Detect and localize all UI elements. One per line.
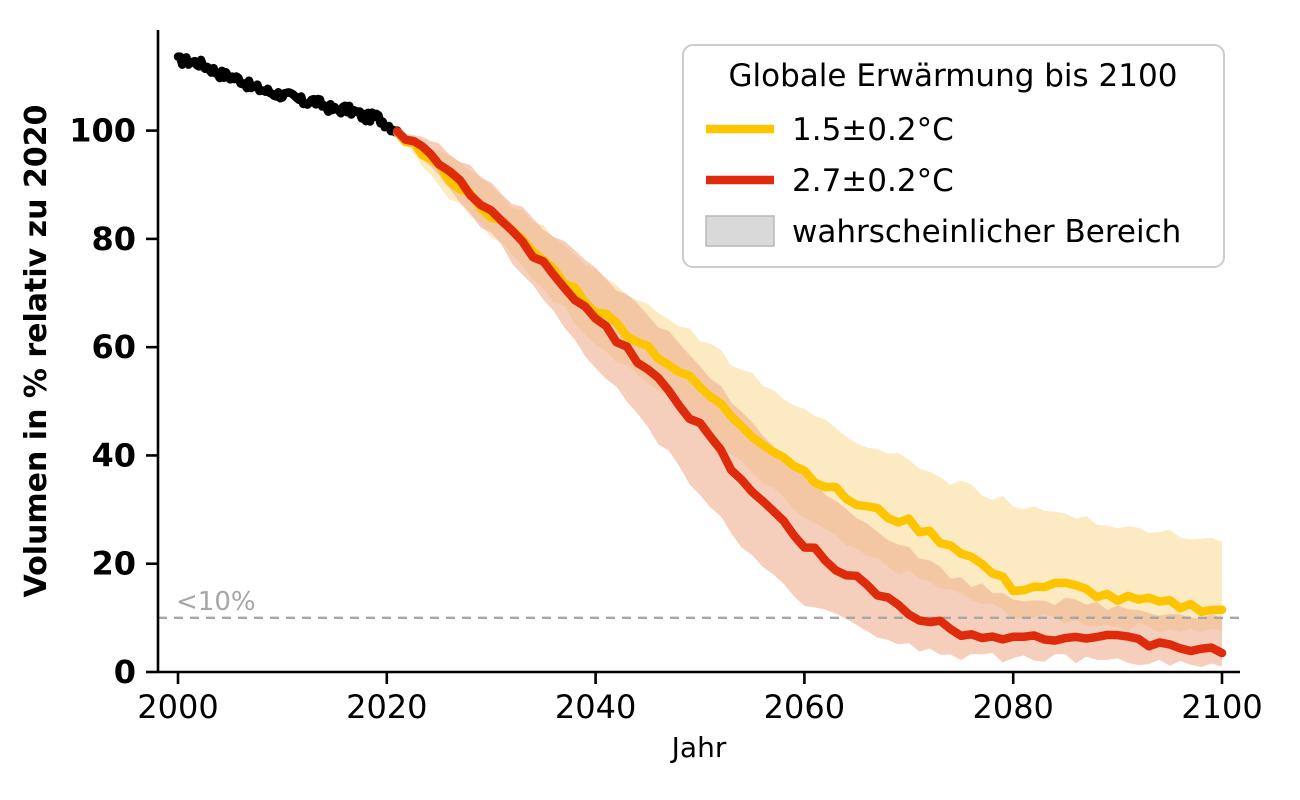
legend-title: Globale Erwärmung bis 2100 <box>729 58 1178 94</box>
x-tick-label: 2000 <box>137 688 218 726</box>
chart-legend: Globale Erwärmung bis 2100 1.5±0.2°C 2.7… <box>683 45 1224 267</box>
legend-label-likely-range: wahrscheinlicher Bereich <box>792 214 1181 250</box>
threshold-label: <10% <box>176 587 256 617</box>
y-tick-label: 40 <box>91 436 136 474</box>
y-axis-label: Volumen in % relativ zu 2020 <box>19 105 54 598</box>
x-axis-label: Jahr <box>670 731 727 764</box>
x-tick-label: 2080 <box>972 688 1053 726</box>
volume-projection-chart: <10% 020406080100 2000202020402060208021… <box>0 0 1300 800</box>
legend-swatch-likely-range <box>706 216 774 246</box>
y-tick-label: 80 <box>91 220 136 258</box>
legend-label-1-5-degrees: 1.5±0.2°C <box>792 112 954 148</box>
chart-figure: <10% 020406080100 2000202020402060208021… <box>0 0 1300 800</box>
x-tick-label: 2020 <box>346 688 427 726</box>
x-tick-label: 2100 <box>1181 688 1262 726</box>
y-tick-label: 100 <box>69 112 136 150</box>
x-tick-label: 2040 <box>555 688 636 726</box>
x-tick-label: 2060 <box>764 688 845 726</box>
y-axis-ticks: 020406080100 <box>69 112 158 691</box>
y-tick-label: 20 <box>91 545 136 583</box>
x-axis-ticks: 200020202040206020802100 <box>137 672 1262 726</box>
y-tick-label: 0 <box>114 653 136 691</box>
y-tick-label: 60 <box>91 328 136 366</box>
legend-label-2-7-degrees: 2.7±0.2°C <box>792 163 954 199</box>
